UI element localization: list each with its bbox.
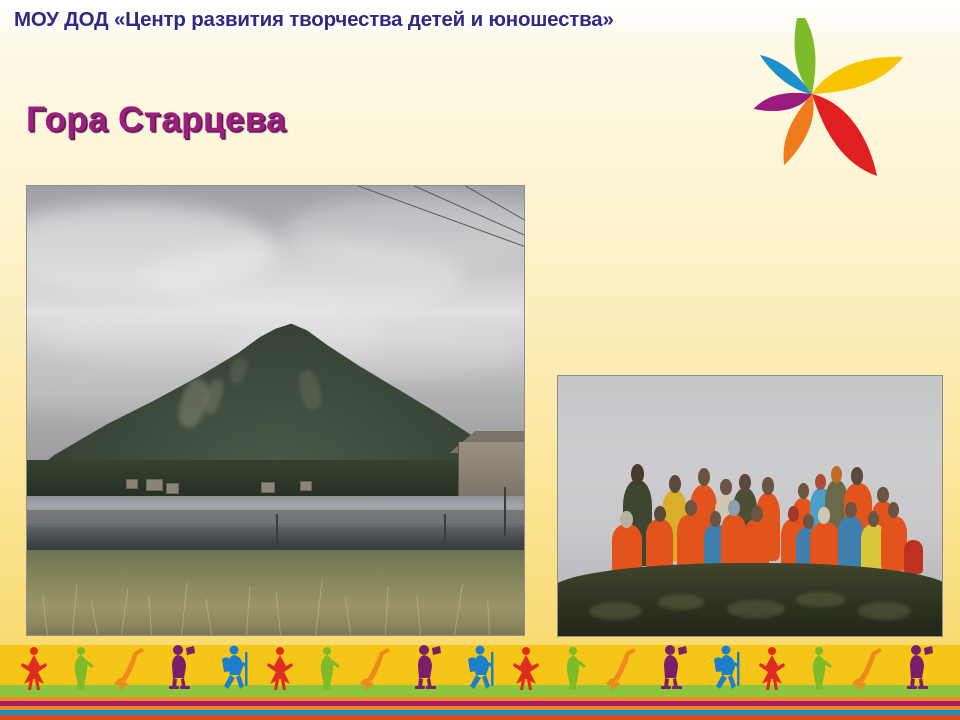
grass-foreground	[27, 550, 524, 635]
figure-photographer	[656, 645, 688, 690]
presentation-slide: МОУ ДОД «Центр развития творчества детей…	[0, 0, 960, 720]
page-title: Гора Старцева	[26, 100, 286, 140]
fence-post	[504, 487, 506, 536]
figure-standing	[558, 646, 588, 690]
mountain-photo	[26, 185, 525, 636]
person-head	[877, 487, 889, 504]
figure-dancer	[262, 646, 298, 690]
person	[646, 519, 673, 571]
figure-photographer	[902, 645, 934, 690]
person-head	[751, 506, 763, 522]
organization-title: МОУ ДОД «Центр развития творчества детей…	[14, 8, 614, 32]
figure-gymnast	[604, 646, 642, 690]
fence-post	[276, 514, 278, 545]
figure-standing	[312, 646, 342, 690]
figure-gymnast	[112, 646, 150, 690]
person-head	[720, 479, 731, 495]
fence-post	[444, 514, 446, 541]
person	[721, 514, 746, 569]
decorative-footer-band	[0, 645, 960, 720]
person	[881, 516, 907, 571]
color-stripes	[0, 693, 960, 720]
person-head	[818, 507, 830, 523]
person-head	[798, 483, 809, 499]
figure-photographer	[164, 645, 196, 690]
house	[126, 479, 138, 489]
person-head	[788, 506, 800, 522]
person	[677, 514, 706, 571]
figure-hiker	[216, 645, 254, 690]
group-photo	[557, 375, 943, 637]
person	[838, 516, 863, 571]
figure-dancer	[754, 646, 790, 690]
figure-dancer	[16, 646, 52, 690]
person-head	[654, 506, 666, 522]
house	[166, 483, 179, 494]
person-head	[851, 467, 863, 485]
house	[300, 481, 312, 491]
figure-hiker	[708, 645, 746, 690]
figure-dancer	[508, 646, 544, 690]
figure-gymnast	[358, 646, 396, 690]
person-head	[815, 474, 826, 490]
figure-standing	[66, 646, 96, 690]
person-head	[762, 477, 774, 494]
person-head	[669, 475, 681, 493]
person-head	[685, 500, 697, 517]
person-head	[620, 511, 633, 528]
stripe-red	[0, 715, 960, 720]
house	[261, 482, 275, 493]
person-head	[728, 500, 740, 516]
flower-logo	[740, 18, 955, 198]
treeline	[27, 460, 524, 500]
person-head	[631, 464, 644, 484]
person-head	[845, 502, 857, 518]
figure-gymnast	[850, 646, 888, 690]
person-head	[831, 466, 843, 483]
figure-hiker	[462, 645, 500, 690]
person-head	[710, 511, 721, 527]
house	[146, 479, 163, 492]
backpack	[904, 540, 923, 574]
figure-standing	[804, 646, 834, 690]
figure-photographer	[410, 645, 442, 690]
